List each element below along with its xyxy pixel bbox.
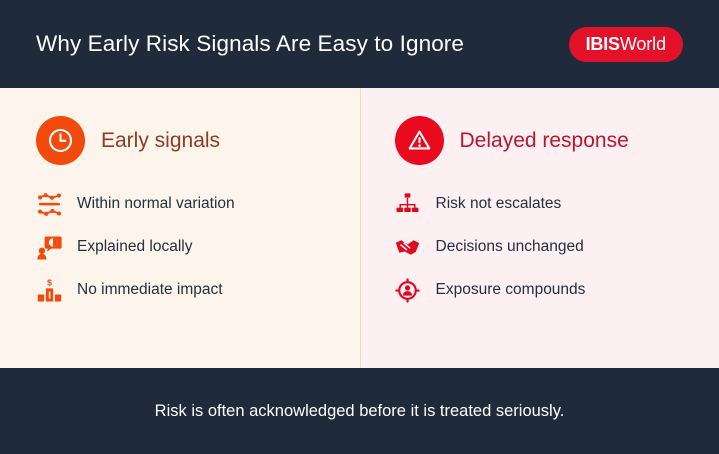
page-title: Why Early Risk Signals Are Easy to Ignor… bbox=[36, 31, 464, 57]
hierarchy-chart-icon bbox=[395, 191, 421, 217]
list-item: Exposure compounds bbox=[395, 277, 690, 303]
svg-text:$: $ bbox=[47, 278, 52, 287]
panel-title-delayed-response: Delayed response bbox=[460, 129, 629, 153]
list-item: Within normal variation bbox=[36, 191, 330, 217]
variation-chart-icon bbox=[36, 191, 62, 217]
infographic-root: Why Early Risk Signals Are Easy to Ignor… bbox=[0, 0, 719, 454]
panel-delayed-response: Delayed response bbox=[360, 88, 719, 368]
ibisworld-logo: IBISWorld bbox=[569, 27, 683, 62]
panel-header-early-signals: Early signals bbox=[36, 116, 330, 165]
footer-bar: Risk is often acknowledged before it is … bbox=[0, 368, 719, 454]
panel-title-early-signals: Early signals bbox=[101, 129, 220, 153]
list-item: Decisions unchanged bbox=[395, 234, 690, 260]
podium-dollar-icon: $ bbox=[36, 277, 62, 303]
panels-container: Early signals bbox=[0, 88, 719, 368]
list-early-signals: Within normal variation bbox=[36, 191, 330, 303]
panel-early-signals: Early signals bbox=[0, 88, 360, 368]
list-item-label: Within normal variation bbox=[77, 195, 235, 213]
header-bar: Why Early Risk Signals Are Easy to Ignor… bbox=[0, 0, 719, 88]
target-person-icon bbox=[395, 277, 421, 303]
list-item: Explained locally bbox=[36, 234, 330, 260]
list-item-label: Exposure compounds bbox=[436, 281, 586, 299]
list-item-label: Decisions unchanged bbox=[436, 238, 584, 256]
logo-bold-text: IBIS bbox=[586, 35, 620, 53]
clock-icon bbox=[36, 116, 85, 165]
warning-triangle-icon bbox=[395, 116, 444, 165]
list-item-label: Explained locally bbox=[77, 238, 192, 256]
panel-header-delayed-response: Delayed response bbox=[395, 116, 690, 165]
list-delayed-response: Risk not escalates Decisions unchanged bbox=[395, 191, 690, 303]
list-item: Risk not escalates bbox=[395, 191, 690, 217]
footer-caption: Risk is often acknowledged before it is … bbox=[155, 402, 565, 421]
list-item-label: Risk not escalates bbox=[436, 195, 562, 213]
person-speech-chart-icon bbox=[36, 234, 62, 260]
list-item-label: No immediate impact bbox=[77, 281, 223, 299]
logo-light-text: World bbox=[620, 35, 666, 53]
handshake-icon bbox=[395, 234, 421, 260]
list-item: $ No immediate impact bbox=[36, 277, 330, 303]
